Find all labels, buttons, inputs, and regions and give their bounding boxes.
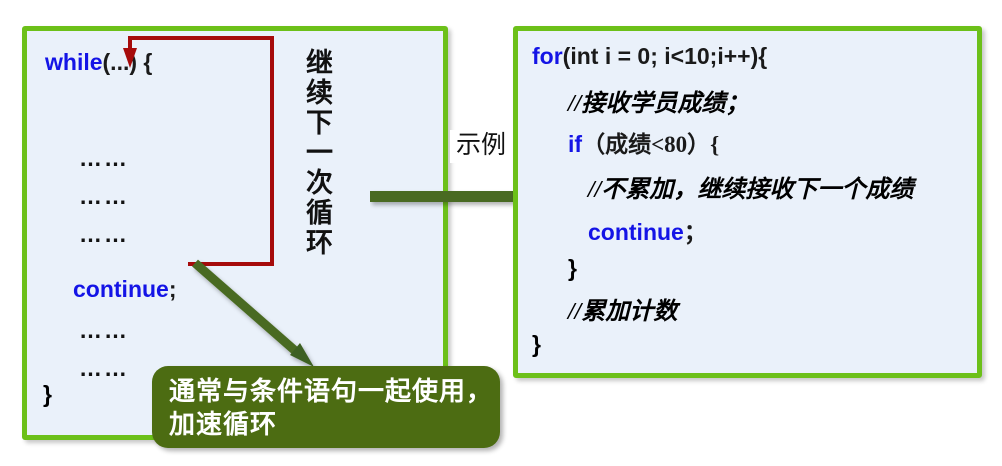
vertical-annotation: 继续下一次循环 xyxy=(292,48,332,258)
code-line-continue: continue; xyxy=(73,276,177,303)
slide-canvas: while(...) { …… …… …… continue; …… …… } … xyxy=(0,0,1002,466)
code-line-if: if（成绩<80）{ xyxy=(568,125,719,159)
for-loop-code-box: for(int i = 0; i<10;i++){ //接收学员成绩； if（成… xyxy=(513,26,982,378)
keyword-while: while xyxy=(45,49,103,75)
callout-line-2: 加速循环 xyxy=(169,408,500,441)
keyword-for: for xyxy=(532,43,563,69)
callout-line-1: 通常与条件语句一起使用， xyxy=(169,375,500,408)
code-line-close-brace: } xyxy=(43,381,52,408)
keyword-continue: continue xyxy=(73,276,169,302)
keyword-continue-right: continue xyxy=(588,219,684,245)
ellipsis-line-4: …… xyxy=(79,317,129,344)
usage-callout: 通常与条件语句一起使用， 加速循环 xyxy=(152,366,500,448)
continue-semicolon: ; xyxy=(169,276,177,302)
loop-back-to-while-arrow xyxy=(120,26,280,276)
code-line-if-close-brace: } xyxy=(568,255,577,282)
code-line-for: for(int i = 0; i<10;i++){ xyxy=(532,43,767,70)
comment-accumulate-count: //累加计数 xyxy=(568,291,677,326)
code-line-continue-right: continue； xyxy=(588,213,707,247)
continue-semicolon-right: ； xyxy=(684,219,707,245)
example-label: 示例 xyxy=(450,130,512,163)
for-args: (int i = 0; i<10;i++){ xyxy=(563,43,768,69)
callout-pointer-arrow xyxy=(190,255,325,375)
if-condition: （成绩<80）{ xyxy=(582,132,719,157)
ellipsis-line-5: …… xyxy=(79,355,129,382)
comment-no-accumulate: //不累加，继续接收下一个成绩 xyxy=(588,169,913,204)
comment-receive-score: //接收学员成绩； xyxy=(568,83,749,118)
keyword-if: if xyxy=(568,131,582,157)
code-line-for-close-brace: } xyxy=(532,331,541,358)
